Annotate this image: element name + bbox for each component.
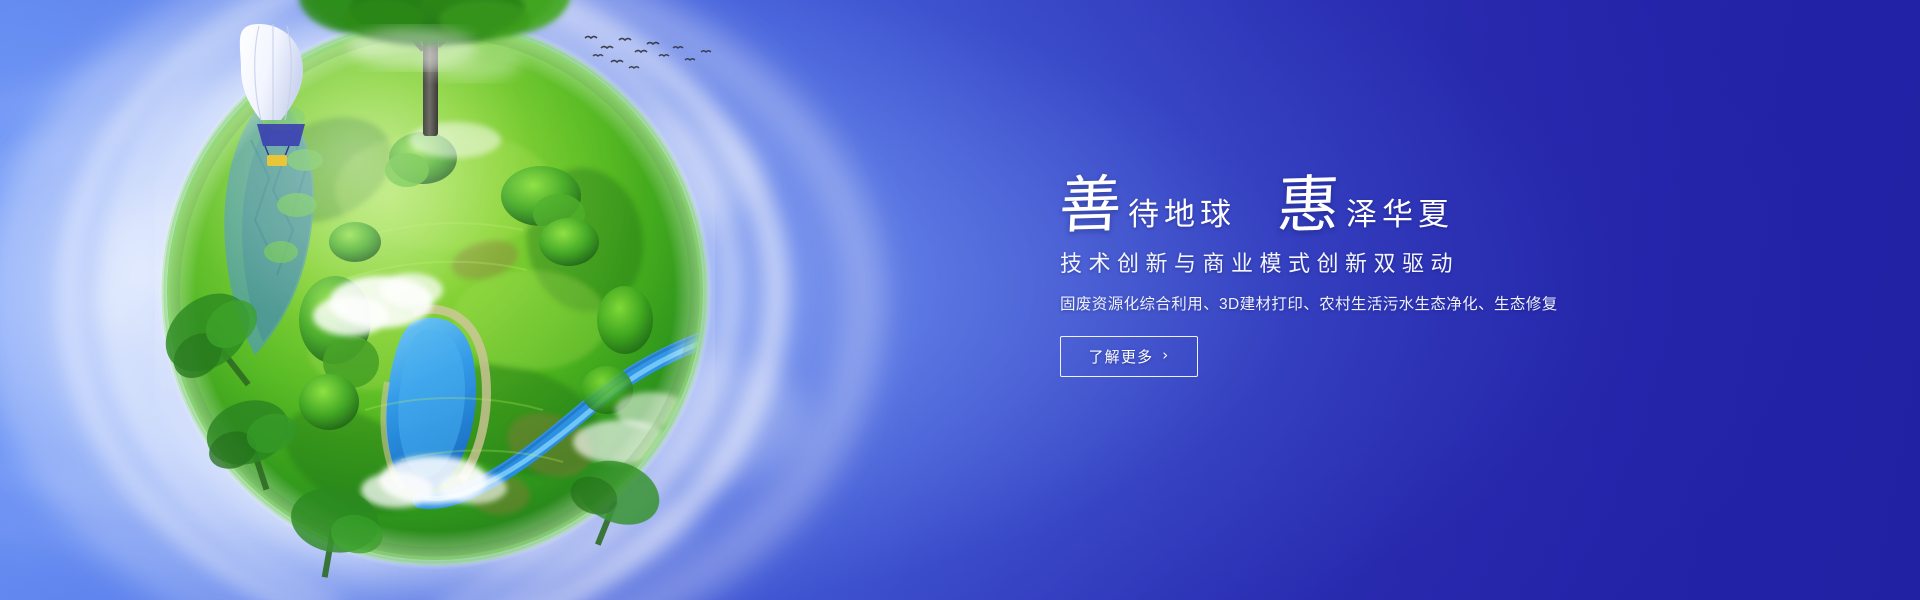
headline-big-char-2: 惠 xyxy=(1276,175,1341,236)
headline-big-char-1: 善 xyxy=(1058,175,1123,236)
learn-more-label: 了解更多 xyxy=(1088,346,1153,367)
subtitle: 技术创新与商业模式创新双驱动 xyxy=(1060,250,1578,279)
sky-background xyxy=(0,0,1920,600)
hero-content: 善 待地球 惠 泽华夏 技术创新与商业模式创新双驱动 固废资源化综合利用、3D建… xyxy=(1058,150,1578,377)
headline-group-1: 善 待地球 xyxy=(1058,176,1236,236)
headline-group-2: 惠 泽华夏 xyxy=(1276,176,1454,236)
learn-more-button[interactable]: 了解更多 › xyxy=(1060,336,1198,377)
description: 固废资源化综合利用、3D建材打印、农村生活污水生态净化、生态修复 xyxy=(1060,293,1578,316)
page-title: 善 待地球 惠 泽华夏 xyxy=(1058,150,1578,236)
chevron-right-icon: › xyxy=(1162,348,1169,363)
hero-banner: 善 待地球 惠 泽华夏 技术创新与商业模式创新双驱动 固废资源化综合利用、3D建… xyxy=(0,0,1920,600)
headline-small-text-1: 待地球 xyxy=(1128,200,1236,236)
headline-small-text-2: 泽华夏 xyxy=(1346,200,1454,236)
